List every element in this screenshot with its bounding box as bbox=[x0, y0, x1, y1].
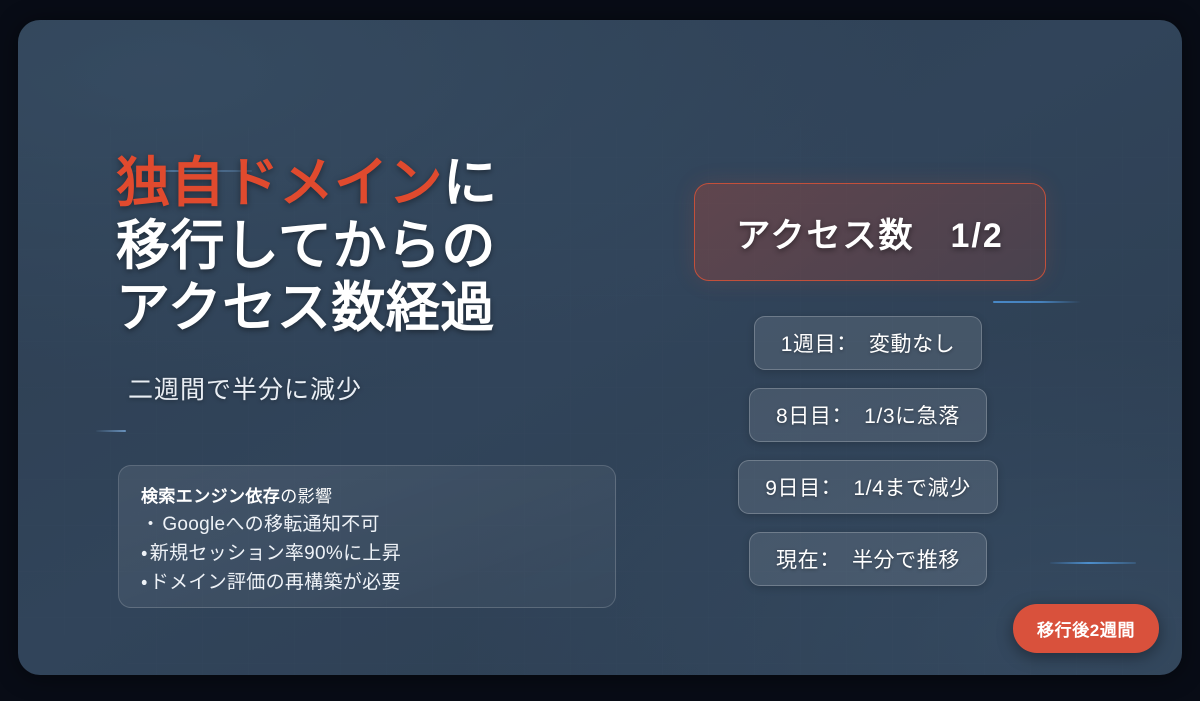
info-bullet-list: ・Googleへの移転通知不可 ・新規セッション率90%に上昇 ・ドメイン評価の… bbox=[141, 511, 593, 598]
metric-badge: アクセス数 1/2 bbox=[694, 183, 1046, 281]
bullet-text: ドメイン評価の再構築が必要 bbox=[150, 572, 401, 593]
page-title-accent: 独自ドメイン bbox=[116, 153, 443, 213]
info-card: 検索エンジン依存の影響 ・Googleへの移転通知不可 ・新規セッション率90%… bbox=[118, 465, 616, 608]
info-card-heading-strong: 検索エンジン依存 bbox=[141, 487, 280, 506]
list-item: ・Googleへの移転通知不可 bbox=[141, 511, 593, 540]
timeline-chip-day9: 9日目： 1/4まで減少 bbox=[738, 460, 998, 514]
info-card-heading: 検索エンジン依存の影響 bbox=[141, 482, 593, 507]
timeline-chip-current: 現在： 半分で推移 bbox=[749, 532, 987, 586]
page-title-line-2: 移行してからの bbox=[116, 215, 636, 278]
slide-canvas: 独自ドメインに 移行してからの アクセス数経過 二週間で半分に減少 検索エンジン… bbox=[18, 20, 1182, 675]
bullet-icon: ・ bbox=[141, 514, 160, 535]
period-pill: 移行後2週間 bbox=[1013, 604, 1159, 653]
bullet-icon: ・ bbox=[141, 572, 148, 593]
accent-line-subtitle bbox=[96, 430, 126, 432]
page-title-line-3: アクセス数経過 bbox=[116, 277, 636, 340]
timeline-chip-day8: 8日目： 1/3に急落 bbox=[749, 388, 987, 442]
bullet-text: Googleへの移転通知不可 bbox=[162, 514, 379, 535]
page-title-line-1-tail: に bbox=[443, 153, 498, 213]
left-column: 独自ドメインに 移行してからの アクセス数経過 二週間で半分に減少 bbox=[116, 152, 636, 406]
list-item: ・ドメイン評価の再構築が必要 bbox=[141, 569, 593, 598]
info-card-heading-tail: の影響 bbox=[280, 487, 332, 506]
timeline-chip-week1: 1週目： 変動なし bbox=[754, 316, 983, 370]
page-title-line-1: 独自ドメインに bbox=[116, 152, 636, 215]
list-item: ・新規セッション率90%に上昇 bbox=[141, 540, 593, 569]
timeline-chip-list: 1週目： 変動なし 8日目： 1/3に急落 9日目： 1/4まで減少 現在： 半… bbox=[658, 316, 1078, 586]
page-title: 独自ドメインに 移行してからの アクセス数経過 bbox=[116, 152, 636, 340]
bullet-icon: ・ bbox=[141, 543, 148, 564]
accent-line-upper-right bbox=[993, 301, 1081, 303]
bullet-text: 新規セッション率90%に上昇 bbox=[150, 543, 401, 564]
page-subtitle: 二週間で半分に減少 bbox=[128, 370, 636, 406]
metric-badge-label: アクセス数 1/2 bbox=[736, 208, 1004, 257]
